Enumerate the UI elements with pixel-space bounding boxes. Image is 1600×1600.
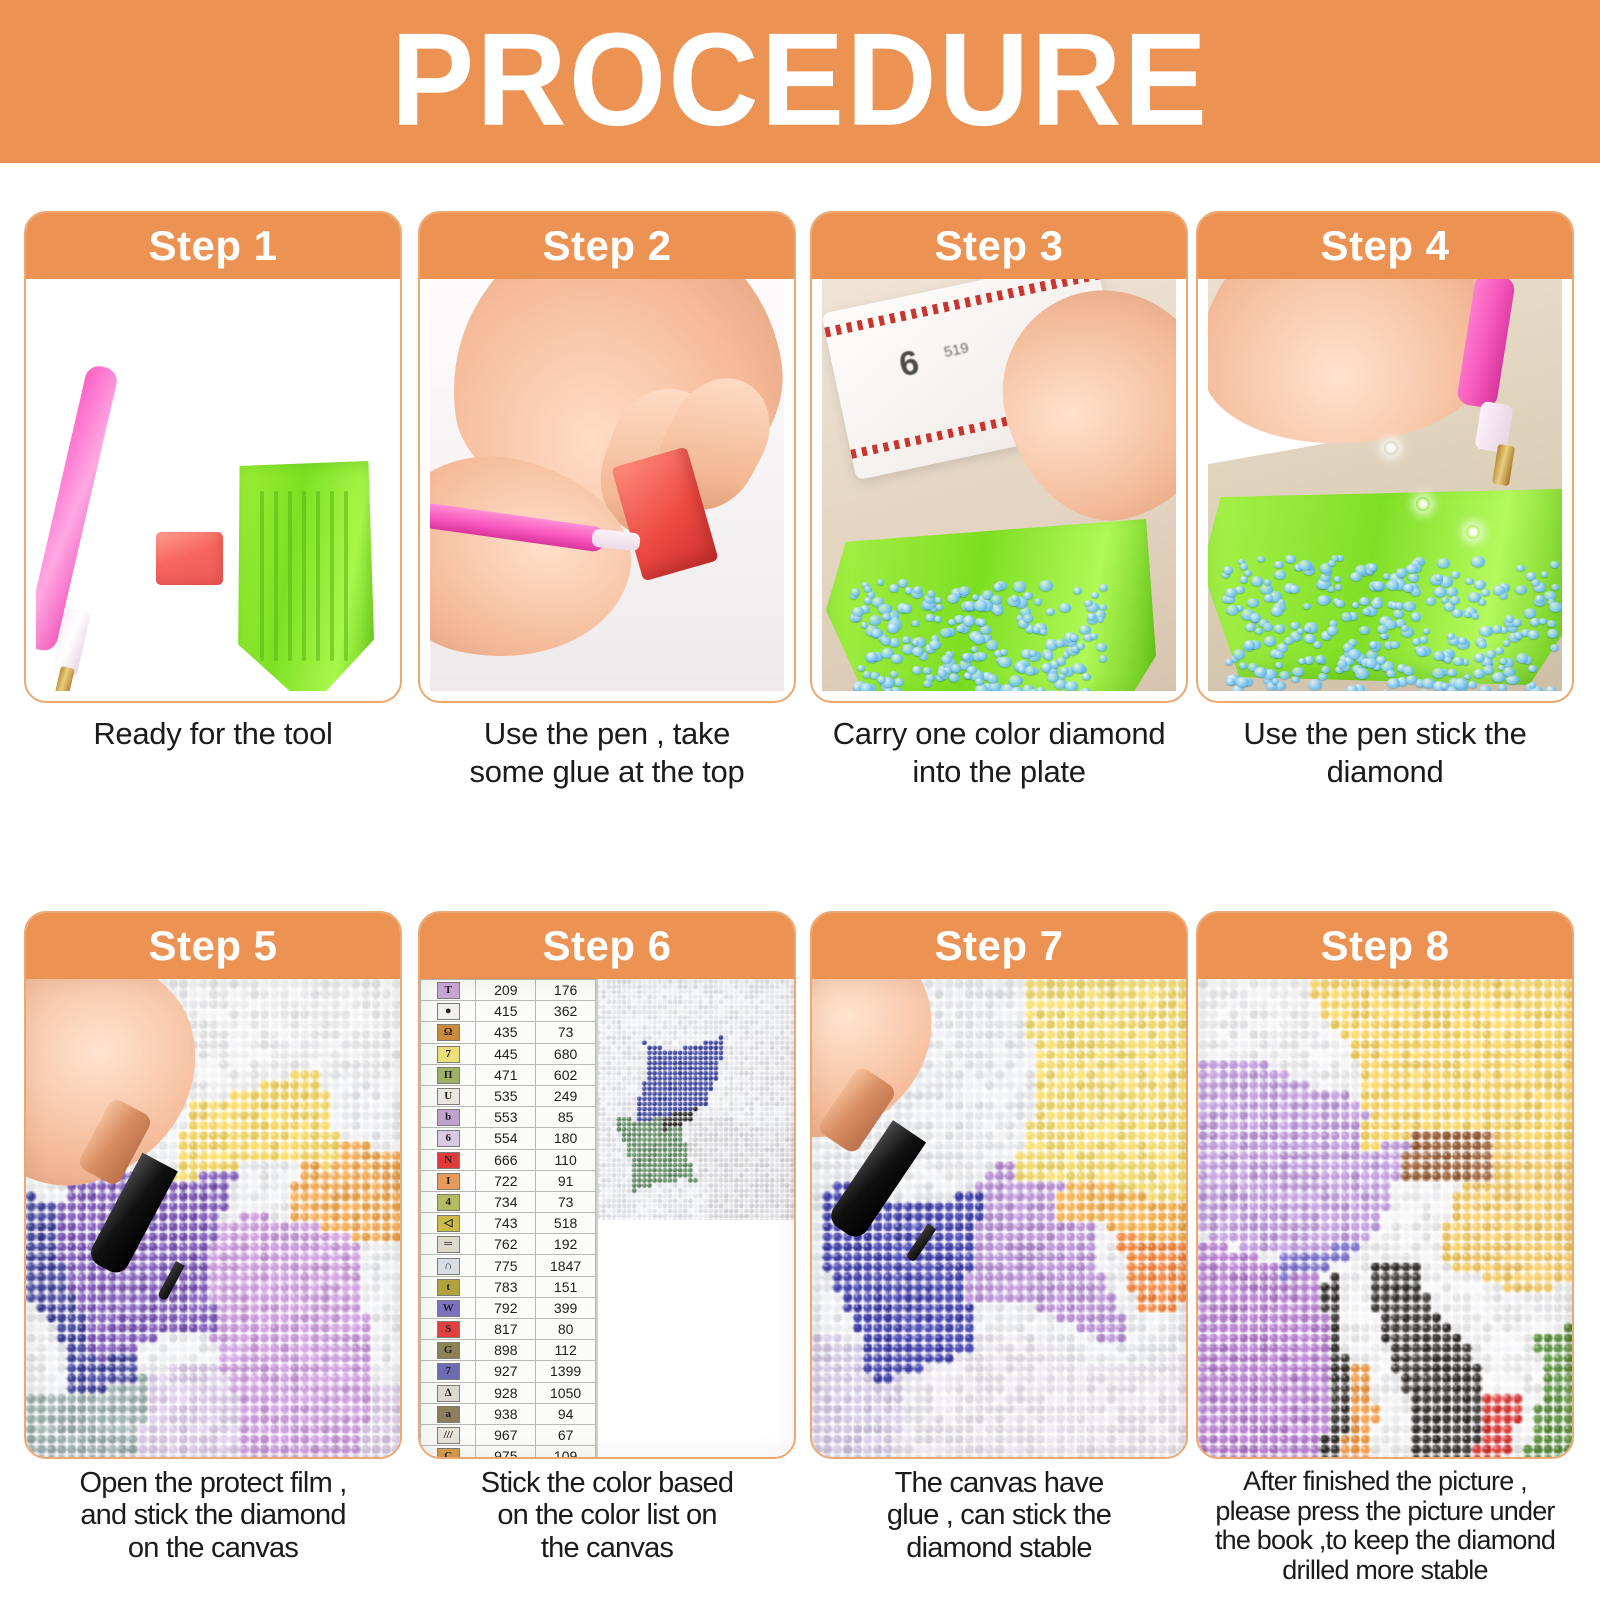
- count-cell: 112: [536, 1340, 596, 1361]
- caption-line: diamond stable: [799, 1532, 1199, 1564]
- color-symbol-cell: S: [421, 1319, 476, 1340]
- step-image-3: 6 519: [822, 279, 1176, 691]
- caption-line: Carry one color diamond: [810, 715, 1188, 753]
- caption-line: on the canvas: [13, 1532, 413, 1564]
- dmc-code-cell: 762: [476, 1234, 536, 1255]
- dmc-code-cell: 817: [476, 1319, 536, 1340]
- caption-line: the canvas: [407, 1532, 807, 1564]
- color-swatch-icon: T: [437, 982, 460, 999]
- step-label-5: Step 5: [148, 925, 277, 967]
- color-list-row: Π471602: [421, 1064, 596, 1085]
- step-cell-5: Step 5 Open the protect film , and stick…: [24, 911, 402, 1459]
- dmc-code-cell: 553: [476, 1107, 536, 1128]
- step-card-1[interactable]: Step 1: [24, 211, 402, 703]
- color-swatch-icon: N: [437, 1152, 460, 1169]
- dmc-code-cell: 435: [476, 1022, 536, 1043]
- color-swatch-icon: U: [437, 1088, 460, 1105]
- count-cell: 602: [536, 1064, 596, 1085]
- dmc-code-cell: 928: [476, 1382, 536, 1403]
- step-label-2: Step 2: [542, 225, 671, 267]
- dmc-code-cell: 975: [476, 1446, 536, 1457]
- dmc-code-cell: 415: [476, 1001, 536, 1022]
- count-cell: 180: [536, 1128, 596, 1149]
- color-list-row: 7445680: [421, 1043, 596, 1064]
- color-symbol-cell: G: [421, 1340, 476, 1361]
- color-list-row: ∩7751847: [421, 1255, 596, 1276]
- step-caption-3: Carry one color diamond into the plate: [810, 715, 1188, 791]
- dmc-code-cell: 898: [476, 1340, 536, 1361]
- glue-photo: [430, 279, 784, 691]
- color-symbol-cell: 4: [421, 1191, 476, 1212]
- step-card-3[interactable]: Step 3 6 519: [810, 211, 1188, 703]
- color-symbol-cell: 6: [421, 1128, 476, 1149]
- dmc-code-cell: 927: [476, 1361, 536, 1382]
- color-list-row: 6554180: [421, 1128, 596, 1149]
- color-list-row: T209176: [421, 980, 596, 1001]
- step-label-1: Step 1: [148, 225, 277, 267]
- step-card-7[interactable]: Step 7: [810, 911, 1188, 1459]
- color-symbol-cell: ═: [421, 1234, 476, 1255]
- color-swatch-icon: b: [437, 1109, 460, 1126]
- caption-line: glue , can stick the: [799, 1499, 1199, 1531]
- dmc-code-cell: 666: [476, 1149, 536, 1170]
- dmc-code-cell: 471: [476, 1064, 536, 1085]
- step-image-5: [26, 979, 400, 1457]
- page-header: PROCEDURE: [0, 0, 1600, 163]
- step-header-4: Step 4: [1198, 213, 1572, 279]
- color-symbol-cell: C: [421, 1446, 476, 1457]
- color-list-row: ∆9281050: [421, 1382, 596, 1403]
- color-symbol-cell: N: [421, 1149, 476, 1170]
- color-symbol-cell: 7: [421, 1361, 476, 1382]
- color-swatch-icon: S: [437, 1321, 460, 1338]
- color-list-row: ●415362: [421, 1001, 596, 1022]
- color-symbol-cell: ∩: [421, 1255, 476, 1276]
- caption-line: please press the picture under: [1175, 1497, 1595, 1527]
- step-cell-4: Step 4: [1196, 211, 1574, 703]
- dmc-code-cell: 792: [476, 1297, 536, 1318]
- step-header-3: Step 3: [812, 213, 1186, 279]
- color-symbol-cell: ///: [421, 1424, 476, 1445]
- step-label-6: Step 6: [542, 925, 671, 967]
- count-cell: 67: [536, 1424, 596, 1445]
- color-list-row: b55385: [421, 1107, 596, 1128]
- caption-line: into the plate: [810, 753, 1188, 791]
- caption-line: The canvas have: [799, 1467, 1199, 1499]
- step-header-7: Step 7: [812, 913, 1186, 979]
- step-caption-4: Use the pen stick the diamond: [1196, 715, 1574, 791]
- step-cell-8: Step 8 After finished the picture , plea…: [1196, 911, 1574, 1459]
- step-image-7: [812, 979, 1186, 1457]
- step-label-3: Step 3: [934, 225, 1063, 267]
- procedure-row-1: Step 1: [0, 211, 1600, 891]
- pour-photo: 6 519: [822, 279, 1176, 691]
- color-symbol-cell: Ω: [421, 1022, 476, 1043]
- color-swatch-icon: I: [437, 1173, 460, 1190]
- color-swatch-icon: Π: [437, 1067, 460, 1084]
- color-list-rows: T209176●415362Ω435737445680Π471602U53524…: [420, 979, 596, 1457]
- step-card-4[interactable]: Step 4: [1196, 211, 1574, 703]
- count-cell: 94: [536, 1403, 596, 1424]
- caption-line: Use the pen , take: [418, 715, 796, 753]
- color-symbol-cell: U: [421, 1085, 476, 1106]
- procedure-row-2: Step 5 Open the protect film , and stick…: [0, 911, 1600, 1599]
- color-list-row: U535249: [421, 1085, 596, 1106]
- color-swatch-icon: t: [437, 1279, 460, 1296]
- caption-line: drilled more stable: [1175, 1556, 1595, 1586]
- dmc-code-cell: 209: [476, 980, 536, 1001]
- canvas-mosaic: [596, 979, 794, 1457]
- color-list-row: ═762192: [421, 1234, 596, 1255]
- dmc-code-cell: 734: [476, 1191, 536, 1212]
- caption-line: diamond: [1196, 753, 1574, 791]
- color-swatch-icon: C: [437, 1448, 460, 1457]
- count-cell: 151: [536, 1276, 596, 1297]
- color-list-row: W792399: [421, 1297, 596, 1318]
- caption-line: Stick the color based: [407, 1467, 807, 1499]
- pickup-photo: [1208, 279, 1562, 691]
- step-caption-2: Use the pen , take some glue at the top: [418, 715, 796, 791]
- caption-line: the book ,to keep the diamond: [1175, 1526, 1595, 1556]
- caption-line: and stick the diamond: [13, 1499, 413, 1531]
- step-label-4: Step 4: [1320, 225, 1449, 267]
- step-caption-1: Ready for the tool: [24, 715, 402, 753]
- count-cell: 85: [536, 1107, 596, 1128]
- color-list-row: 79271399: [421, 1361, 596, 1382]
- color-swatch-icon: W: [437, 1300, 460, 1317]
- color-list-row: I72291: [421, 1170, 596, 1191]
- color-swatch-icon: 4: [437, 1194, 460, 1211]
- step-image-6: T209176●415362Ω435737445680Π471602U53524…: [420, 979, 794, 1457]
- step-header-6: Step 6: [420, 913, 794, 979]
- color-symbol-cell: ◁: [421, 1213, 476, 1234]
- color-symbol-cell: t: [421, 1276, 476, 1297]
- count-cell: 80: [536, 1319, 596, 1340]
- dmc-code-cell: 743: [476, 1213, 536, 1234]
- color-list-row: ◁743518: [421, 1213, 596, 1234]
- dmc-code-cell: 445: [476, 1043, 536, 1064]
- color-swatch-icon: ∆: [437, 1385, 460, 1402]
- color-list-row: 473473: [421, 1191, 596, 1212]
- step-image-1: [36, 279, 390, 691]
- step-image-2: [430, 279, 784, 691]
- step-header-5: Step 5: [26, 913, 400, 979]
- color-list-row: G898112: [421, 1340, 596, 1361]
- caption-line: Use the pen stick the: [1196, 715, 1574, 753]
- count-cell: 1847: [536, 1255, 596, 1276]
- count-cell: 1399: [536, 1361, 596, 1382]
- count-cell: 399: [536, 1297, 596, 1318]
- color-list-row: N666110: [421, 1149, 596, 1170]
- dmc-code-cell: 535: [476, 1085, 536, 1106]
- color-swatch-icon: 7: [437, 1363, 460, 1380]
- count-cell: 176: [536, 980, 596, 1001]
- color-list-row: Ω43573: [421, 1022, 596, 1043]
- step-card-5[interactable]: Step 5: [24, 911, 402, 1459]
- caption-line: Open the protect film ,: [13, 1467, 413, 1499]
- count-cell: 192: [536, 1234, 596, 1255]
- count-cell: 362: [536, 1001, 596, 1022]
- step-label-7: Step 7: [934, 925, 1063, 967]
- step-caption-8: After finished the picture , please pres…: [1175, 1467, 1595, 1586]
- step-cell-7: Step 7 The canvas have glue , can stick …: [810, 911, 1188, 1459]
- color-list-table: T209176●415362Ω435737445680Π471602U53524…: [420, 979, 598, 1457]
- color-symbol-cell: T: [421, 980, 476, 1001]
- count-cell: 73: [536, 1022, 596, 1043]
- step-header-2: Step 2: [420, 213, 794, 279]
- color-swatch-icon: ●: [437, 1003, 460, 1020]
- color-swatch-icon: G: [437, 1342, 460, 1359]
- color-swatch-icon: ◁: [437, 1215, 460, 1232]
- color-list-row: C975109: [421, 1446, 596, 1457]
- step-caption-5: Open the protect film , and stick the di…: [13, 1467, 413, 1564]
- color-symbol-cell: Π: [421, 1064, 476, 1085]
- step-image-8: [1198, 979, 1572, 1457]
- procedure-grid: Step 1: [0, 163, 1600, 1600]
- color-symbol-cell: I: [421, 1170, 476, 1191]
- color-swatch-icon: ═: [437, 1236, 460, 1253]
- step-label-8: Step 8: [1320, 925, 1449, 967]
- color-swatch-icon: ∩: [437, 1258, 460, 1275]
- step-header-8: Step 8: [1198, 913, 1572, 979]
- step-cell-2: Step 2 Use the pen , take some: [418, 211, 796, 703]
- caption-line: some glue at the top: [418, 753, 796, 791]
- blue-diamonds-pile: [822, 279, 1176, 691]
- green-tray-icon: [234, 461, 374, 691]
- count-cell: 109: [536, 1446, 596, 1457]
- step-cell-6: Step 6 T209176●415362Ω435737445680Π47160…: [418, 911, 796, 1459]
- count-cell: 249: [536, 1085, 596, 1106]
- color-symbol-cell: a: [421, 1403, 476, 1424]
- dmc-code-cell: 554: [476, 1128, 536, 1149]
- step-cell-1: Step 1: [24, 211, 402, 703]
- dmc-code-cell: 722: [476, 1170, 536, 1191]
- color-symbol-cell: 7: [421, 1043, 476, 1064]
- caption-line: After finished the picture ,: [1175, 1467, 1595, 1497]
- step-card-2[interactable]: Step 2: [418, 211, 796, 703]
- dmc-code-cell: 775: [476, 1255, 536, 1276]
- dmc-code-cell: 783: [476, 1276, 536, 1297]
- step-image-4: [1208, 279, 1562, 691]
- dmc-code-cell: 967: [476, 1424, 536, 1445]
- color-swatch-icon: 6: [437, 1130, 460, 1147]
- color-swatch-icon: 7: [437, 1046, 460, 1063]
- step-card-8[interactable]: Step 8: [1196, 911, 1574, 1459]
- color-list-row: t783151: [421, 1276, 596, 1297]
- step-caption-7: The canvas have glue , can stick the dia…: [799, 1467, 1199, 1564]
- color-swatch-icon: Ω: [437, 1024, 460, 1041]
- color-symbol-cell: b: [421, 1107, 476, 1128]
- color-swatch-icon: a: [437, 1406, 460, 1423]
- count-cell: 1050: [536, 1382, 596, 1403]
- color-list-row: ///96767: [421, 1424, 596, 1445]
- step-header-1: Step 1: [26, 213, 400, 279]
- count-cell: 91: [536, 1170, 596, 1191]
- color-swatch-icon: ///: [437, 1427, 460, 1444]
- blue-diamonds-pile: [1208, 279, 1562, 691]
- color-list-row: S81780: [421, 1319, 596, 1340]
- color-list-row: a93894: [421, 1403, 596, 1424]
- tool-photo: [36, 279, 390, 691]
- caption-line: on the color list on: [407, 1499, 807, 1531]
- color-symbol-cell: ●: [421, 1001, 476, 1022]
- count-cell: 73: [536, 1191, 596, 1212]
- finished-canvas-mosaic: [1198, 979, 1572, 1457]
- color-symbol-cell: W: [421, 1297, 476, 1318]
- step-card-6[interactable]: Step 6 T209176●415362Ω435737445680Π47160…: [418, 911, 796, 1459]
- color-symbol-cell: ∆: [421, 1382, 476, 1403]
- step-caption-6: Stick the color based on the color list …: [407, 1467, 807, 1564]
- dmc-code-cell: 938: [476, 1403, 536, 1424]
- page-title: PROCEDURE: [391, 13, 1209, 145]
- count-cell: 518: [536, 1213, 596, 1234]
- glue-square-icon: [156, 532, 223, 585]
- count-cell: 680: [536, 1043, 596, 1064]
- count-cell: 110: [536, 1149, 596, 1170]
- step-cell-3: Step 3 6 519: [810, 211, 1188, 703]
